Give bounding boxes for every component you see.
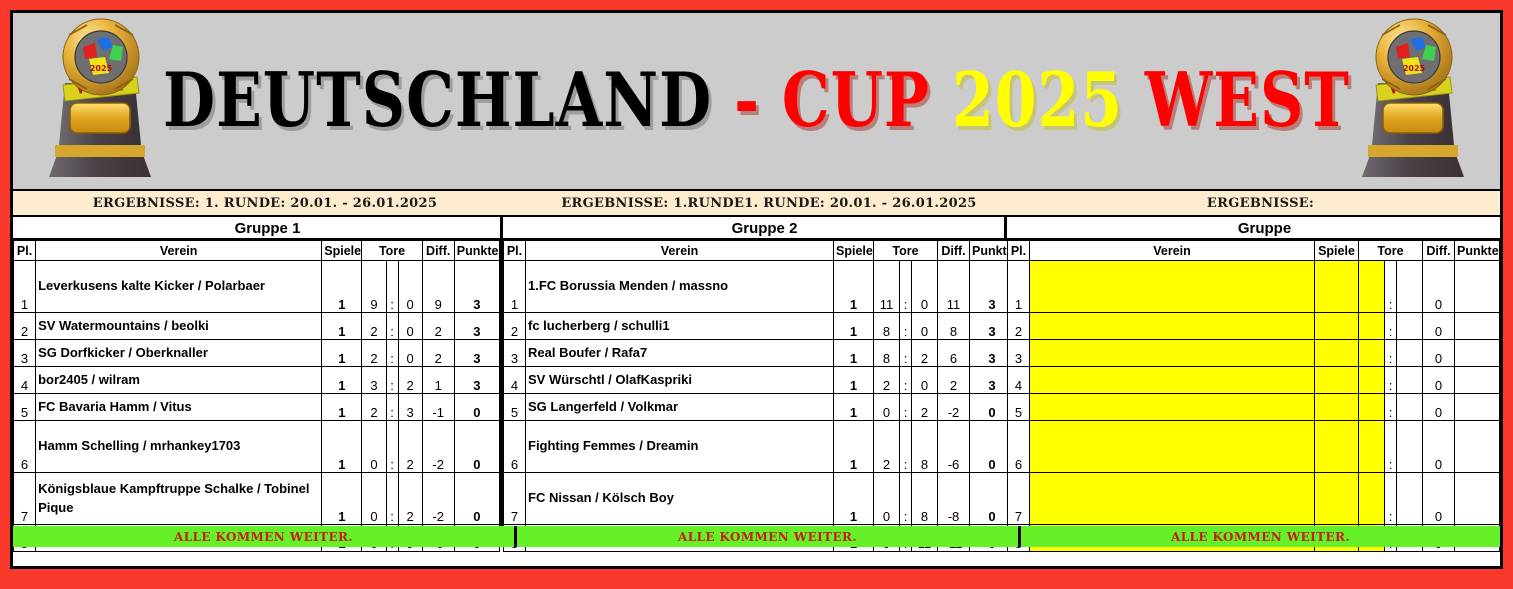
cell-position: 4 (1008, 367, 1030, 394)
cell-goal-difference: 0 (1423, 340, 1455, 367)
cell-goal-difference: -1 (422, 394, 454, 421)
cell-goals-for: 2 (362, 340, 386, 367)
cell-goal-separator: : (386, 261, 398, 313)
cell-team-name (1030, 367, 1315, 394)
group-block-3: Gruppe Pl.VereinSpieleToreDiff.Punkte1:0… (1007, 217, 1500, 523)
table-row[interactable]: 5SG Langerfeld / Volkmar10:2-20 (504, 394, 1015, 421)
group-title-3: Gruppe (1007, 217, 1500, 240)
col-header-spiele: Spiele (1315, 241, 1359, 261)
cell-goals-for: 2 (874, 421, 900, 473)
cell-goals-against: 3 (398, 394, 422, 421)
cell-position: 2 (504, 313, 526, 340)
cell-position: 1 (1008, 261, 1030, 313)
cell-team-name (1030, 340, 1315, 367)
cell-goal-separator: : (1385, 394, 1397, 421)
cell-goal-difference: 2 (422, 340, 454, 367)
col-header-pl: Pl. (14, 241, 36, 261)
group-block-1: Gruppe 1 Pl.VereinSpieleToreDiff.Punkte1… (13, 217, 503, 523)
cell-goal-separator: : (900, 473, 912, 525)
col-header-verein: Verein (526, 241, 834, 261)
cell-team-name: SV Watermountains / beolki (36, 313, 322, 340)
cell-position: 5 (1008, 394, 1030, 421)
cell-goals-for: 0 (874, 473, 900, 525)
group-title-2: Gruppe 2 (503, 217, 1004, 240)
cell-goal-difference: 11 (938, 261, 970, 313)
cell-team-name: 1.FC Borussia Menden / massno (526, 261, 834, 313)
trophy-logo-left: WEST 2025 (25, 17, 175, 187)
table-row[interactable]: 3Real Boufer / Rafa718:263 (504, 340, 1015, 367)
cell-goals-for: 0 (874, 394, 900, 421)
cell-goals-for (1359, 261, 1385, 313)
cell-goal-separator: : (1385, 473, 1397, 525)
cell-points (1455, 261, 1500, 313)
table-row[interactable]: 7FC Nissan / Kölsch Boy10:8-80 (504, 473, 1015, 525)
cell-goal-separator: : (386, 367, 398, 394)
cell-team-name: fc lucherberg / schulli1 (526, 313, 834, 340)
poster-banner: WEST 2025 DEUTSCHLAND - CUP 2025 WEST (13, 13, 1500, 191)
title-west: WEST (1145, 57, 1350, 145)
qualification-footer: ALLE KOMMEN WEITER. ALLE KOMMEN WEITER. … (13, 523, 1500, 547)
cell-goals-against (1397, 340, 1423, 367)
cell-games-played (1315, 473, 1359, 525)
results-label-group3: ERGEBNISSE: (1021, 191, 1500, 215)
cell-goals-for (1359, 421, 1385, 473)
cell-points: 0 (454, 421, 499, 473)
cell-team-name (1030, 261, 1315, 313)
table-row[interactable]: 5:0 (1008, 394, 1500, 421)
cell-team-name: Hamm Schelling / mrhankey1703 (36, 421, 322, 473)
table-row[interactable]: 1:0 (1008, 261, 1500, 313)
cell-team-name: Königsblaue Kampftruppe Schalke / Tobine… (36, 473, 322, 525)
standings-table-2: Pl.VereinSpieleToreDiff.Punkte11.FC Boru… (503, 240, 1015, 552)
cell-games-played (1315, 261, 1359, 313)
cell-goals-against: 2 (398, 367, 422, 394)
cell-games-played (1315, 394, 1359, 421)
svg-text:2025: 2025 (1403, 64, 1426, 73)
cell-points (1455, 340, 1500, 367)
cell-position: 1 (504, 261, 526, 313)
table-row[interactable]: 7Königsblaue Kampftruppe Schalke / Tobin… (14, 473, 500, 525)
cell-position: 6 (1008, 421, 1030, 473)
cell-position: 5 (14, 394, 36, 421)
cell-points (1455, 394, 1500, 421)
cell-goals-against (1397, 421, 1423, 473)
cell-goals-for (1359, 340, 1385, 367)
cell-goals-for: 2 (362, 313, 386, 340)
cell-goals-for: 3 (362, 367, 386, 394)
cell-games-played: 1 (834, 313, 874, 340)
cell-position: 7 (504, 473, 526, 525)
cell-goals-against: 0 (912, 261, 938, 313)
cell-goal-separator: : (386, 394, 398, 421)
cell-goal-difference: 0 (1423, 394, 1455, 421)
table-row[interactable]: 6:0 (1008, 421, 1500, 473)
cell-goal-difference: -8 (938, 473, 970, 525)
cell-team-name: Leverkusens kalte Kicker / Polarbaer (36, 261, 322, 313)
cell-position: 3 (14, 340, 36, 367)
cell-goals-against: 2 (912, 394, 938, 421)
cell-goals-against: 0 (398, 313, 422, 340)
cell-goal-separator: : (900, 394, 912, 421)
col-header-tore: Tore (1359, 241, 1423, 261)
cell-goals-for (1359, 367, 1385, 394)
cell-games-played: 1 (834, 367, 874, 394)
cell-goals-against: 2 (398, 421, 422, 473)
trophy-logo-right: WEST 2025 (1338, 17, 1488, 187)
cell-games-played (1315, 313, 1359, 340)
cell-goals-for: 0 (362, 421, 386, 473)
cell-position: 7 (14, 473, 36, 525)
footer-note-group2: ALLE KOMMEN WEITER. (517, 526, 1021, 547)
cell-goal-separator: : (900, 421, 912, 473)
cell-goals-for (1359, 473, 1385, 525)
col-header-punkte: Punkte (454, 241, 499, 261)
cell-games-played (1315, 340, 1359, 367)
standings-table-3: Pl.VereinSpieleToreDiff.Punkte1:02:03:04… (1007, 240, 1500, 552)
cell-goal-difference: 8 (938, 313, 970, 340)
cell-goals-for: 2 (874, 367, 900, 394)
cell-goal-difference: 2 (422, 313, 454, 340)
table-row[interactable]: 3:0 (1008, 340, 1500, 367)
cell-team-name: Real Boufer / Rafa7 (526, 340, 834, 367)
title-year: 2025 (952, 57, 1123, 145)
table-row[interactable]: 2fc lucherberg / schulli118:083 (504, 313, 1015, 340)
cell-goals-for: 11 (874, 261, 900, 313)
cell-goal-difference: 2 (938, 367, 970, 394)
cell-team-name: Fighting Femmes / Dreamin (526, 421, 834, 473)
cell-points: 0 (454, 394, 499, 421)
cell-team-name: SG Langerfeld / Volkmar (526, 394, 834, 421)
col-header-verein: Verein (36, 241, 322, 261)
cell-team-name (1030, 394, 1315, 421)
table-row[interactable]: 7:0 (1008, 473, 1500, 525)
cell-games-played (1315, 367, 1359, 394)
cell-games-played: 1 (834, 394, 874, 421)
cell-team-name: SV Würschtl / OlafKaspriki (526, 367, 834, 394)
cell-position: 6 (504, 421, 526, 473)
cell-goals-for: 2 (362, 394, 386, 421)
cell-position: 1 (14, 261, 36, 313)
cell-team-name: bor2405 / wilram (36, 367, 322, 394)
col-header-spiele: Spiele (834, 241, 874, 261)
cell-goals-against: 2 (398, 473, 422, 525)
col-header-verein: Verein (1030, 241, 1315, 261)
cell-team-name: FC Nissan / Kölsch Boy (526, 473, 834, 525)
cell-goals-for (1359, 313, 1385, 340)
cell-points: 0 (454, 473, 499, 525)
cell-goal-difference: 0 (1423, 421, 1455, 473)
results-label-group1: ERGEBNISSE: 1. RUNDE: 20.01. - 26.01.202… (13, 191, 517, 215)
cell-team-name: SG Dorfkicker / Oberknaller (36, 340, 322, 367)
cell-goal-separator: : (900, 340, 912, 367)
cell-goal-difference: 0 (1423, 261, 1455, 313)
cell-goal-separator: : (1385, 340, 1397, 367)
cell-position: 3 (504, 340, 526, 367)
cell-goal-difference: 6 (938, 340, 970, 367)
cell-points (1455, 473, 1500, 525)
cell-goal-difference: 0 (1423, 367, 1455, 394)
cell-goal-difference: -6 (938, 421, 970, 473)
cell-goal-separator: : (900, 261, 912, 313)
cell-games-played: 1 (322, 340, 362, 367)
cell-points (1455, 421, 1500, 473)
results-strip: ERGEBNISSE: 1. RUNDE: 20.01. - 26.01.202… (13, 191, 1500, 217)
col-header-diff: Diff. (1423, 241, 1455, 261)
table-row[interactable]: 2SV Watermountains / beolki12:023 (14, 313, 500, 340)
cell-games-played: 1 (834, 473, 874, 525)
cell-goal-separator: : (1385, 313, 1397, 340)
cell-goals-against: 0 (398, 340, 422, 367)
cell-goals-against: 0 (912, 313, 938, 340)
cell-team-name (1030, 313, 1315, 340)
table-row[interactable]: 11.FC Borussia Menden / massno111:0113 (504, 261, 1015, 313)
table-row[interactable]: 4SV Würschtl / OlafKaspriki12:023 (504, 367, 1015, 394)
cell-position: 4 (14, 367, 36, 394)
cell-goal-separator: : (900, 313, 912, 340)
cell-games-played: 1 (322, 313, 362, 340)
cell-position: 2 (1008, 313, 1030, 340)
cell-points: 3 (454, 261, 499, 313)
cell-goal-separator: : (900, 367, 912, 394)
table-row[interactable]: 2:0 (1008, 313, 1500, 340)
footer-note-group1: ALLE KOMMEN WEITER. (13, 526, 517, 547)
svg-text:2025: 2025 (90, 64, 113, 73)
cell-position: 7 (1008, 473, 1030, 525)
cell-goal-difference: -2 (938, 394, 970, 421)
group-tables: Gruppe 1 Pl.VereinSpieleToreDiff.Punkte1… (13, 217, 1500, 523)
page-title: DEUTSCHLAND - CUP 2025 WEST (163, 57, 1350, 145)
cell-goals-against: 8 (912, 421, 938, 473)
cell-points: 3 (454, 367, 499, 394)
cell-goals-for: 8 (874, 340, 900, 367)
cell-goal-separator: : (1385, 261, 1397, 313)
cell-goal-separator: : (386, 421, 398, 473)
cell-goals-for: 0 (362, 473, 386, 525)
group-title-1: Gruppe 1 (13, 217, 500, 240)
cell-goals-against: 8 (912, 473, 938, 525)
table-row[interactable]: 6Fighting Femmes / Dreamin12:8-60 (504, 421, 1015, 473)
cell-points: 3 (454, 313, 499, 340)
table-row[interactable]: 5FC Bavaria Hamm / Vitus12:3-10 (14, 394, 500, 421)
cell-team-name (1030, 473, 1315, 525)
col-header-diff: Diff. (422, 241, 454, 261)
cell-goals-against: 2 (912, 340, 938, 367)
cell-goals-against (1397, 367, 1423, 394)
cell-goals-against (1397, 394, 1423, 421)
cell-goal-separator: : (1385, 367, 1397, 394)
cell-games-played: 1 (322, 421, 362, 473)
table-row[interactable]: 4bor2405 / wilram13:213 (14, 367, 500, 394)
col-header-tore: Tore (362, 241, 422, 261)
cell-goals-for: 9 (362, 261, 386, 313)
cell-points: 3 (454, 340, 499, 367)
cell-games-played: 1 (322, 473, 362, 525)
cell-team-name (1030, 421, 1315, 473)
table-row[interactable]: 1Leverkusens kalte Kicker / Polarbaer19:… (14, 261, 500, 313)
cell-goals-against (1397, 261, 1423, 313)
cell-goals-against: 0 (912, 367, 938, 394)
cell-goal-difference: -2 (422, 421, 454, 473)
cell-games-played: 1 (322, 367, 362, 394)
cell-games-played: 1 (834, 421, 874, 473)
footer-note-group3: ALLE KOMMEN WEITER. (1021, 526, 1500, 547)
cell-goals-against (1397, 473, 1423, 525)
cell-goals-against: 0 (398, 261, 422, 313)
cell-points (1455, 367, 1500, 394)
cell-position: 4 (504, 367, 526, 394)
cell-goals-against (1397, 313, 1423, 340)
cell-position: 2 (14, 313, 36, 340)
cell-games-played: 1 (322, 394, 362, 421)
cell-goal-difference: -2 (422, 473, 454, 525)
table-row[interactable]: 3SG Dorfkicker / Oberknaller12:023 (14, 340, 500, 367)
cell-goal-separator: : (386, 340, 398, 367)
standings-table-1: Pl.VereinSpieleToreDiff.Punkte1Leverkuse… (13, 240, 500, 552)
cell-games-played: 1 (322, 261, 362, 313)
cell-position: 3 (1008, 340, 1030, 367)
cell-goal-difference: 9 (422, 261, 454, 313)
col-header-diff: Diff. (938, 241, 970, 261)
table-row[interactable]: 6Hamm Schelling / mrhankey170310:2-20 (14, 421, 500, 473)
group-block-2: Gruppe 2 Pl.VereinSpieleToreDiff.Punkte1… (503, 217, 1007, 523)
col-header-punkte: Punkte (1455, 241, 1500, 261)
cell-games-played: 1 (834, 261, 874, 313)
col-header-tore: Tore (874, 241, 938, 261)
cell-goal-difference: 0 (1423, 473, 1455, 525)
cell-goal-separator: : (1385, 421, 1397, 473)
cell-team-name: FC Bavaria Hamm / Vitus (36, 394, 322, 421)
cell-goals-for (1359, 394, 1385, 421)
cell-goal-difference: 0 (1423, 313, 1455, 340)
cell-goal-difference: 1 (422, 367, 454, 394)
tournament-poster: WEST 2025 DEUTSCHLAND - CUP 2025 WEST (10, 10, 1503, 569)
cell-goal-separator: : (386, 313, 398, 340)
col-header-pl: Pl. (1008, 241, 1030, 261)
results-label-group2: ERGEBNISSE: 1.RUNDE1. RUNDE: 20.01. - 26… (517, 191, 1021, 215)
cell-games-played: 1 (834, 340, 874, 367)
cell-goal-separator: : (386, 473, 398, 525)
table-row[interactable]: 4:0 (1008, 367, 1500, 394)
title-cup: - CUP (734, 57, 930, 145)
cell-goals-for: 8 (874, 313, 900, 340)
col-header-pl: Pl. (504, 241, 526, 261)
title-deutschland: DEUTSCHLAND (163, 57, 712, 145)
cell-points (1455, 313, 1500, 340)
cell-position: 6 (14, 421, 36, 473)
col-header-spiele: Spiele (322, 241, 362, 261)
cell-position: 5 (504, 394, 526, 421)
cell-games-played (1315, 421, 1359, 473)
